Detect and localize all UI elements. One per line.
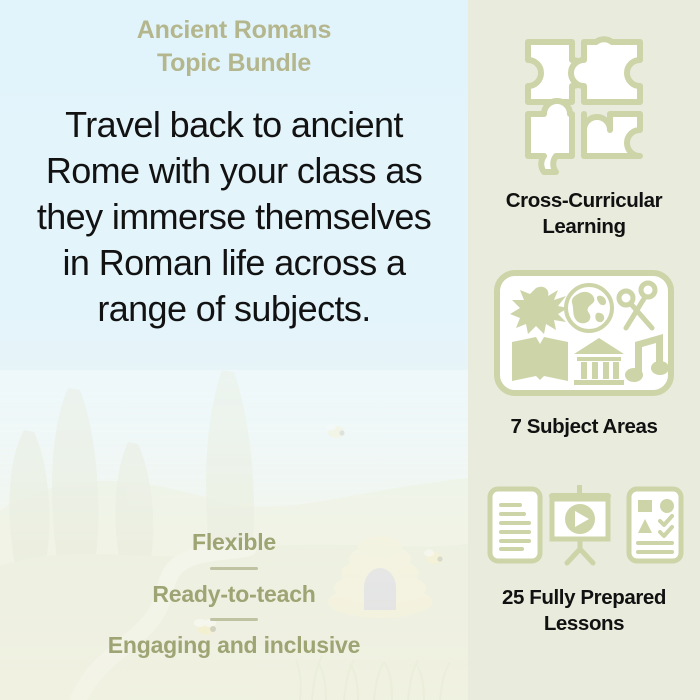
feature-lessons: 25 Fully Prepared Lessons [468,483,700,637]
tagline-list: Flexible Ready-to-teach Engaging and inc… [108,528,360,660]
tagline-flexible: Flexible [192,528,276,557]
tagline-engaging-inclusive: Engaging and inclusive [108,631,360,660]
right-panel: Cross-Curricular Learning [468,0,700,700]
caption-line-1: 25 Fully Prepared [502,586,666,609]
tagline-divider-2 [210,618,258,621]
feature-caption-lessons: 25 Fully Prepared Lessons [477,585,692,637]
caption-line-2: Learning [542,215,625,238]
lesson-resources-icon [484,483,684,567]
feature-caption-cross-curricular: Cross-Curricular Learning [477,188,692,240]
kicker-title: Ancient Romans Topic Bundle [137,14,331,80]
left-panel: Ancient Romans Topic Bundle Travel back … [0,0,468,700]
document-icon [490,489,540,561]
presentation-play-icon [549,485,611,563]
caption-line-1: Cross-Curricular [506,189,663,212]
subject-areas-icon [494,270,674,396]
puzzle-pieces-icon [500,18,668,180]
headline-text: Travel back to ancient Rome with your cl… [19,102,449,332]
feature-subject-areas: 7 Subject Areas [468,270,700,440]
caption-line-2: Lessons [544,612,624,635]
tagline-divider-1 [210,567,258,570]
feature-cross-curricular: Cross-Curricular Learning [468,18,700,240]
poster-canvas: Ancient Romans Topic Bundle Travel back … [0,0,700,700]
tagline-ready-to-teach: Ready-to-teach [152,580,315,609]
kicker-line-1: Ancient Romans [137,14,331,47]
worksheet-icon [629,489,681,561]
kicker-line-2: Topic Bundle [137,47,331,80]
feature-caption-subject-areas: 7 Subject Areas [477,414,692,440]
left-content: Ancient Romans Topic Bundle Travel back … [0,0,468,700]
